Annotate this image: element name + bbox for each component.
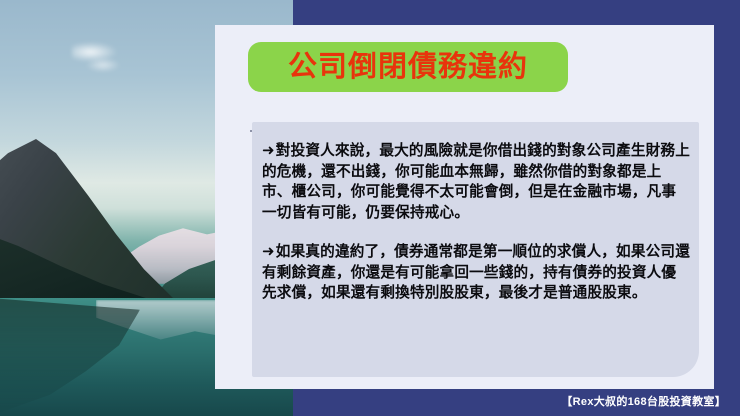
arrow-bullet-icon: ➜ (262, 142, 276, 159)
paragraph-1-text: 對投資人來說，最大的風險就是你借出錢的對象公司產生財務上的危機，還不出錢，你可能… (262, 143, 690, 221)
paragraph-2: ➜如果真的違約了，債券通常都是第一順位的求償人，如果公司還有剩餘資產，你還是有可… (262, 241, 691, 304)
title-badge: 公司倒閉債務違約 (248, 42, 568, 92)
arrow-bullet-icon: ➜ (262, 243, 276, 260)
page-title: 公司倒閉債務違約 (288, 53, 528, 82)
content-card: 公司倒閉債務違約 ➜對投資人來說，最大的風險就是你借出錢的對象公司產生財務上的危… (215, 25, 714, 389)
paragraph-1: ➜對投資人來說，最大的風險就是你借出錢的對象公司產生財務上的危機，還不出錢，你可… (262, 140, 691, 224)
slide-root: 【Rex大叔的168台股投資教室】 公司倒閉債務違約 ➜對投資人來說，最大的風險… (0, 0, 740, 416)
paragraph-2-text: 如果真的違約了，債券通常都是第一順位的求償人，如果公司還有剩餘資產，你還是有可能… (262, 244, 690, 301)
body-text-panel: ➜對投資人來說，最大的風險就是你借出錢的對象公司產生財務上的危機，還不出錢，你可… (252, 122, 699, 377)
cloud-shape (86, 58, 120, 72)
footer-credit-text: 【Rex大叔的168台股投資教室】 (561, 393, 726, 409)
